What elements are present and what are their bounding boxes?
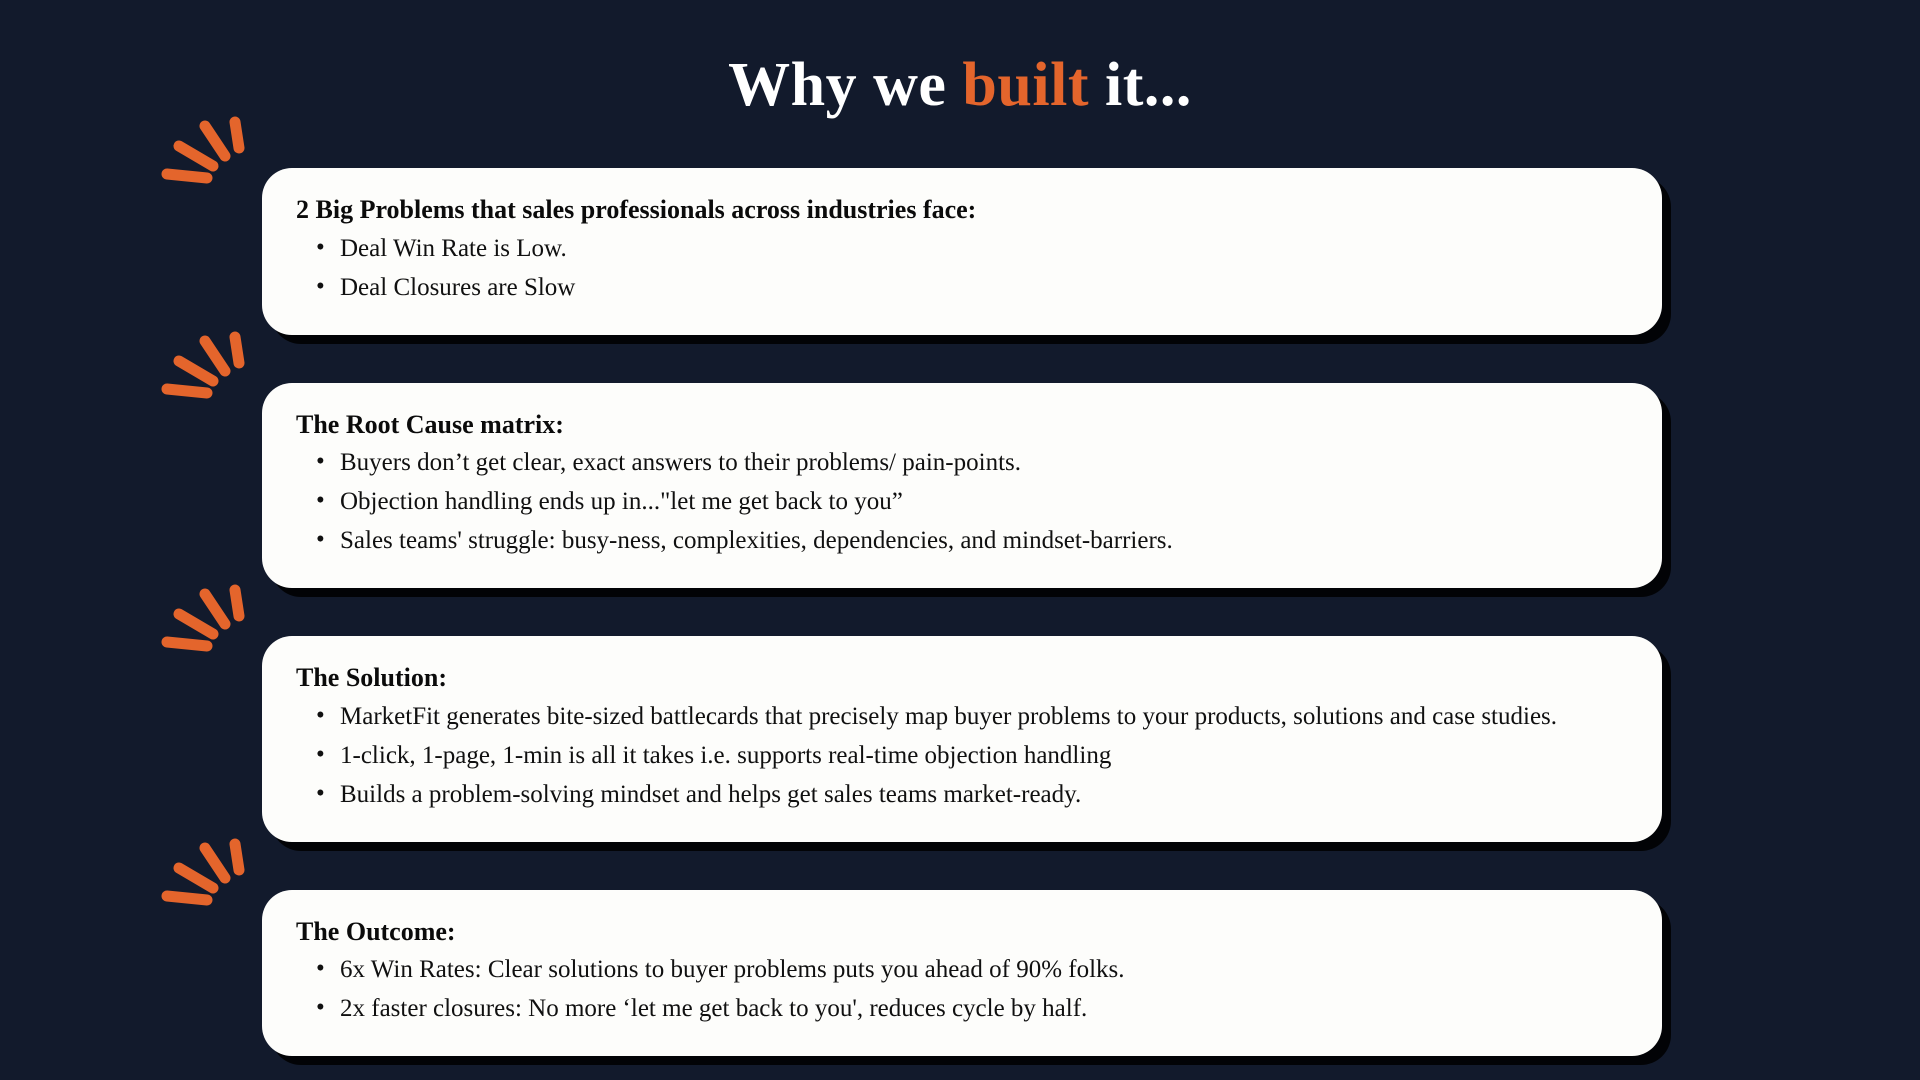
card-row: The Outcome: 6x Win Rates: Clear solutio…	[262, 890, 1662, 1057]
card-row: 2 Big Problems that sales professionals …	[262, 168, 1662, 335]
title-accent-word: built	[962, 51, 1089, 119]
title-part-2: it...	[1089, 51, 1192, 119]
list-item: MarketFit generates bite-sized battlecar…	[338, 700, 1628, 734]
card[interactable]: 2 Big Problems that sales professionals …	[262, 168, 1662, 335]
list-item: Builds a problem-solving mindset and hel…	[338, 778, 1628, 812]
spark-burst-icon	[157, 584, 247, 664]
card[interactable]: The Root Cause matrix: Buyers don’t get …	[262, 383, 1662, 589]
slide-root: Why we built it... 2 Big Problems that s…	[0, 0, 1920, 1080]
card-heading: The Outcome:	[296, 916, 1628, 949]
card-heading: The Solution:	[296, 662, 1628, 695]
card-bullet-list: Deal Win Rate is Low. Deal Closures are …	[296, 232, 1628, 305]
list-item: Deal Closures are Slow	[338, 271, 1628, 305]
card-bullet-list: MarketFit generates bite-sized battlecar…	[296, 700, 1628, 812]
card[interactable]: The Solution: MarketFit generates bite-s…	[262, 636, 1662, 842]
list-item: 2x faster closures: No more ‘let me get …	[338, 992, 1628, 1026]
spark-burst-icon	[157, 838, 247, 918]
list-item: 1-click, 1-page, 1-min is all it takes i…	[338, 739, 1628, 773]
card-bullet-list: Buyers don’t get clear, exact answers to…	[296, 446, 1628, 558]
card-row: The Solution: MarketFit generates bite-s…	[262, 636, 1662, 842]
list-item: Objection handling ends up in..."let me …	[338, 485, 1628, 519]
card-bullet-list: 6x Win Rates: Clear solutions to buyer p…	[296, 953, 1628, 1026]
card-heading: The Root Cause matrix:	[296, 409, 1628, 442]
card-list: 2 Big Problems that sales professionals …	[262, 168, 1662, 1056]
card-heading: 2 Big Problems that sales professionals …	[296, 194, 1628, 227]
spark-burst-icon	[157, 331, 247, 411]
page-title: Why we built it...	[0, 52, 1920, 119]
card[interactable]: The Outcome: 6x Win Rates: Clear solutio…	[262, 890, 1662, 1057]
list-item: Buyers don’t get clear, exact answers to…	[338, 446, 1628, 480]
title-text: Why we built it...	[0, 52, 1920, 119]
list-item: Sales teams' struggle: busy-ness, comple…	[338, 524, 1628, 558]
list-item: 6x Win Rates: Clear solutions to buyer p…	[338, 953, 1628, 987]
list-item: Deal Win Rate is Low.	[338, 232, 1628, 266]
title-part-1: Why we	[728, 51, 962, 119]
card-row: The Root Cause matrix: Buyers don’t get …	[262, 383, 1662, 589]
spark-burst-icon	[157, 116, 247, 196]
